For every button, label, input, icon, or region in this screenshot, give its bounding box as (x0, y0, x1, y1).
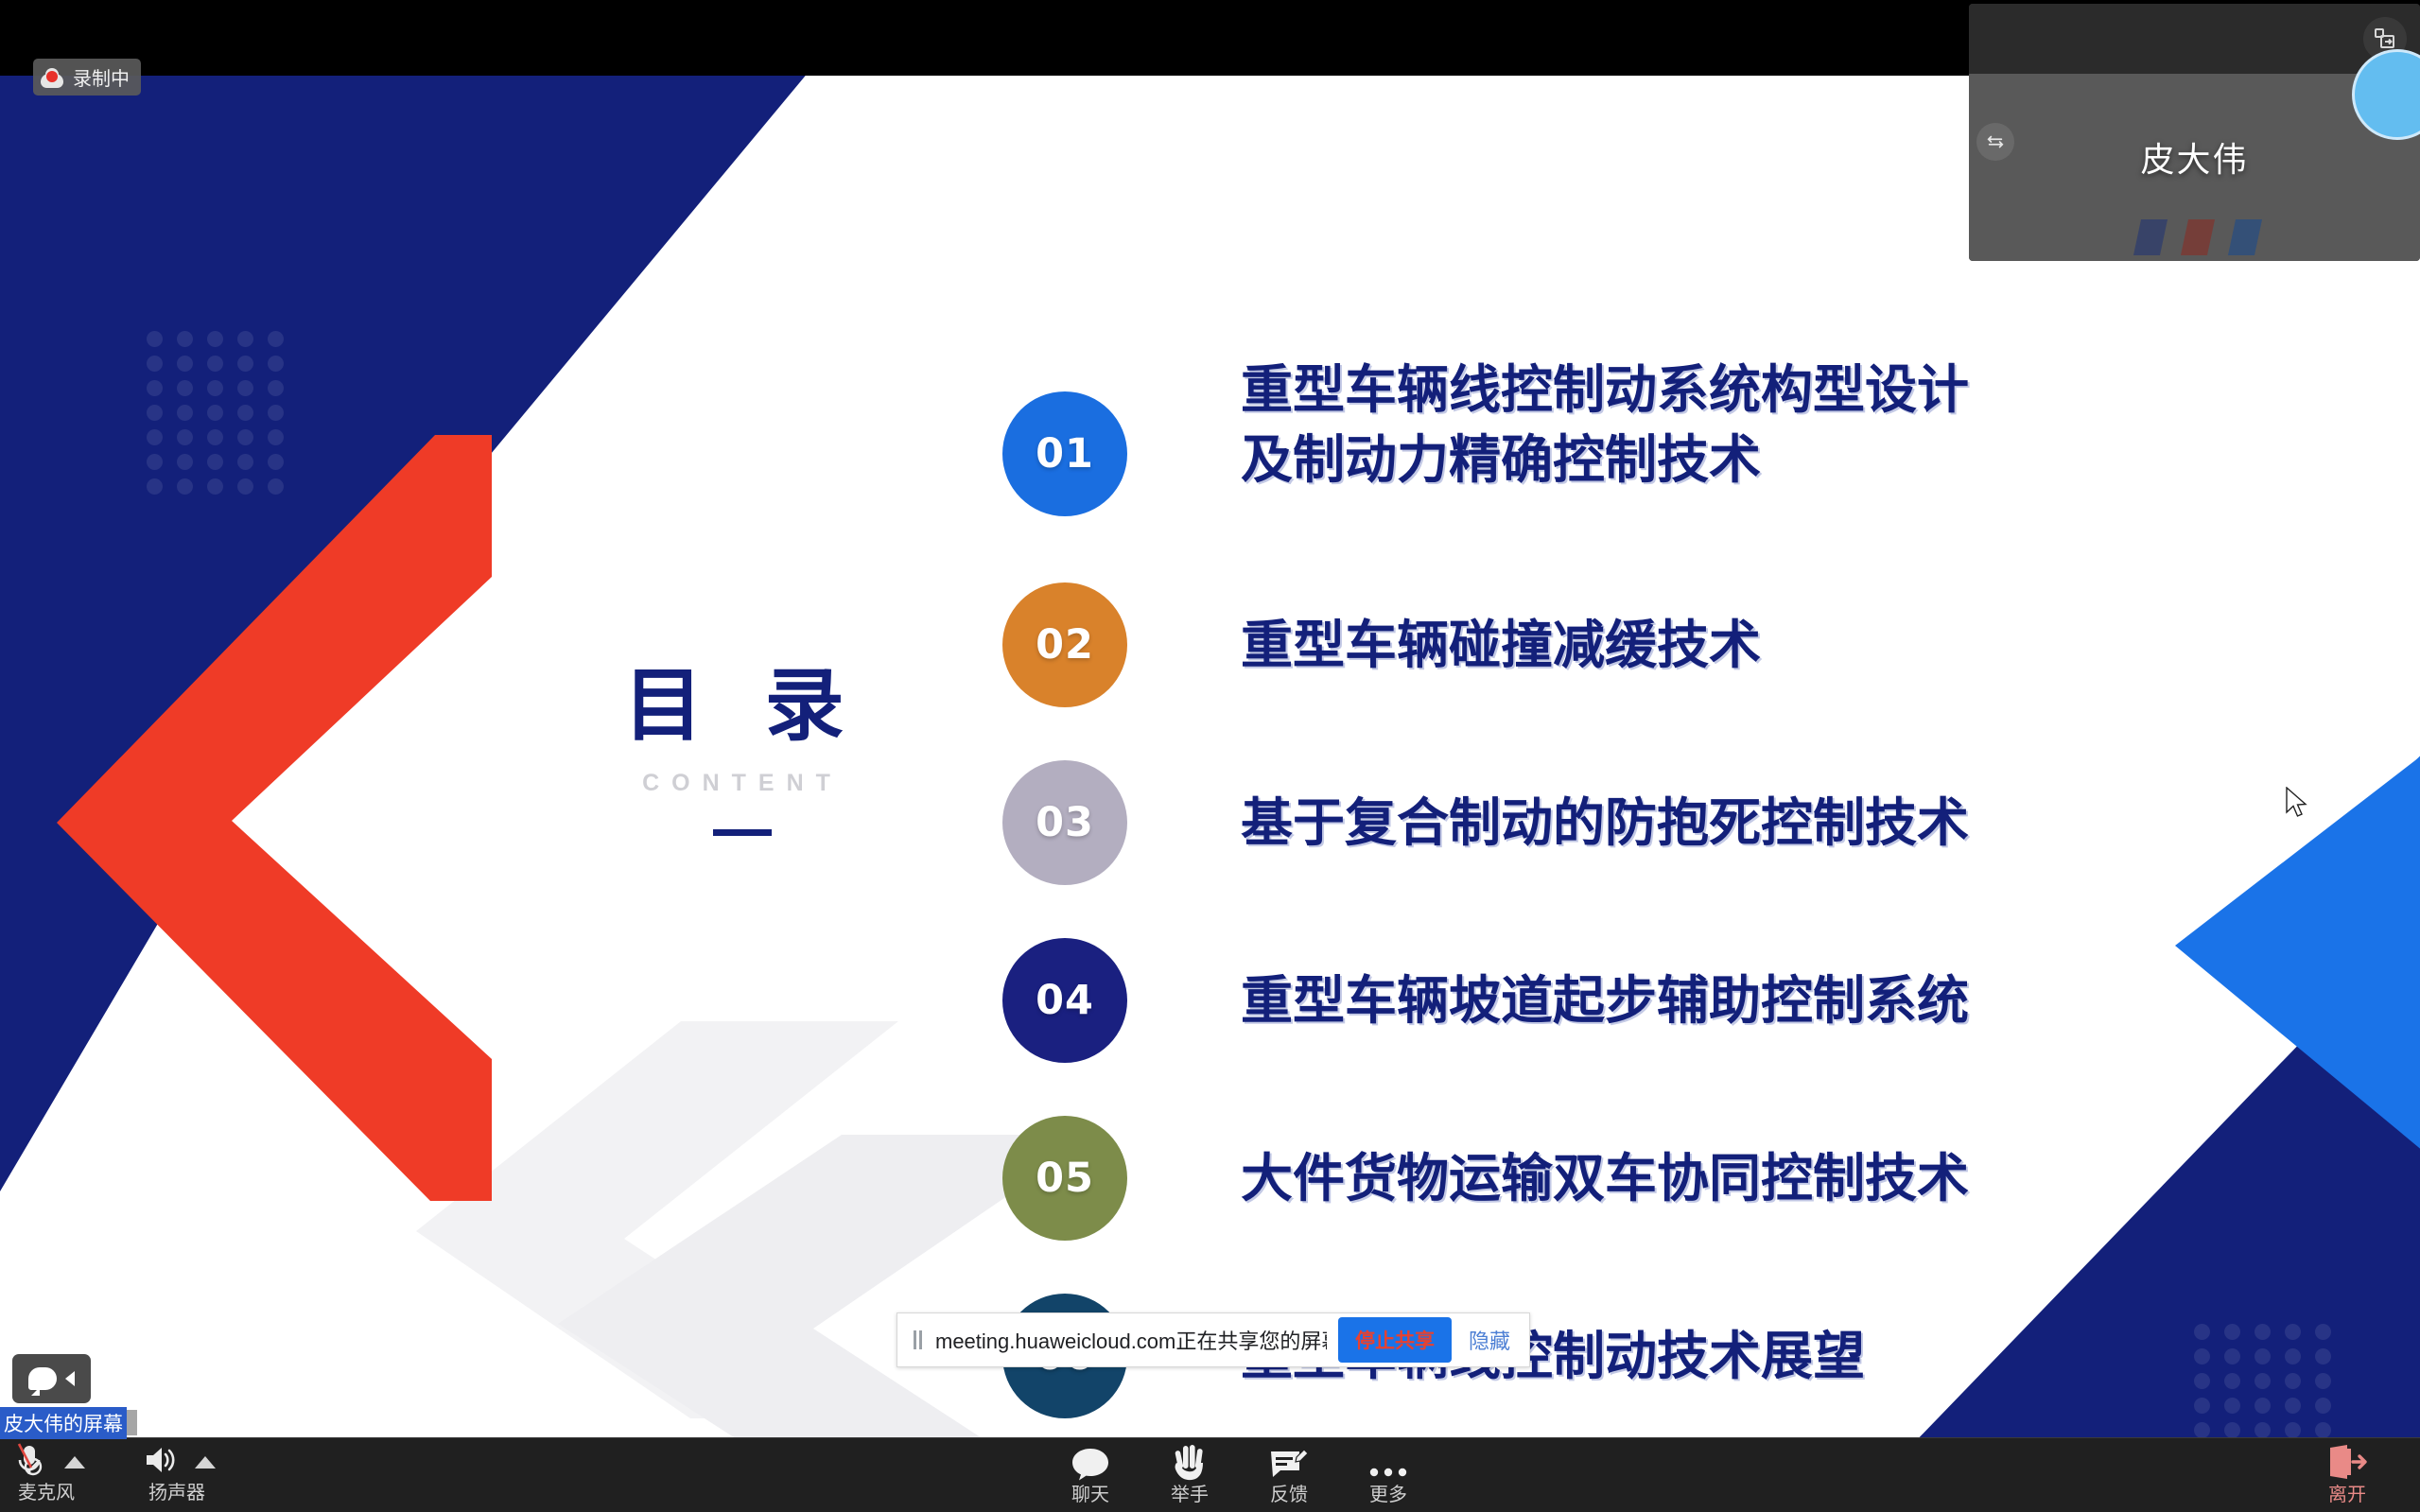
pause-icon (911, 1330, 924, 1349)
slide-content-list: 01重型车辆线控制动系统构型设计及制动力精确控制技术02重型车辆碰撞减缓技术03… (1002, 359, 2345, 1437)
toolbar-chat[interactable]: 聊天 (1038, 1442, 1142, 1504)
participant-name: 皮大伟 (1969, 132, 2420, 182)
more-label: 更多 (1369, 1486, 1407, 1504)
grid-dot (207, 356, 223, 372)
participant-video-panel[interactable]: 皮大伟 (1969, 4, 2420, 261)
toolbar-microphone[interactable]: 麦克风 (8, 1440, 85, 1503)
screen-tag-label: 皮大伟的屏幕 (0, 1407, 127, 1439)
content-row-text: 重型车辆坡道起步辅助控制系统 (1241, 966, 2319, 1036)
exit-door-icon (2326, 1442, 2368, 1482)
grid-dot (268, 405, 284, 421)
grid-dot (147, 331, 163, 347)
screen-tag-tail (127, 1410, 137, 1435)
grid-dot (268, 380, 284, 396)
red-chevron-arrow (57, 435, 492, 1201)
grid-dot (177, 331, 193, 347)
content-number-badge: 02 (1002, 582, 1127, 707)
chevron-left-icon (65, 1371, 75, 1386)
grid-dot (237, 380, 253, 396)
grid-dot (268, 331, 284, 347)
video-stripes (2137, 219, 2270, 255)
chevron-up-icon-microphone[interactable] (64, 1456, 85, 1469)
more-dots-icon (1367, 1442, 1409, 1482)
grid-dot (177, 405, 193, 421)
slide-title-cn: 目 录 (586, 662, 898, 749)
video-stripe (2228, 219, 2262, 255)
content-row: 03基于复合制动的防抱死控制技术 (1002, 760, 2345, 938)
shared-slide: 目 录 CONTENT 01重型车辆线控制动系统构型设计及制动力精确控制技术02… (0, 76, 2420, 1437)
mouse-cursor (2285, 787, 2309, 821)
microphone-label: 麦克风 (18, 1484, 75, 1503)
video-stripe (2181, 219, 2215, 255)
speaker-label: 扬声器 (148, 1484, 205, 1503)
slide-title-en: CONTENT (586, 770, 898, 797)
content-row-text: 大件货物运输双车协同控制技术 (1241, 1144, 2319, 1214)
screen-share-notice-bar: meeting.huaweicloud.com正在共享您的屏幕。 停止共享 隐藏 (897, 1312, 1530, 1367)
grid-dot (207, 380, 223, 396)
microphone-muted-icon[interactable] (8, 1438, 51, 1486)
raise-hand-label: 举手 (1171, 1486, 1209, 1504)
slide-title-block: 目 录 CONTENT (586, 662, 898, 836)
leave-label: 离开 (2328, 1486, 2366, 1504)
content-row-text: 重型车辆碰撞减缓技术 (1241, 611, 2319, 681)
grid-dot (207, 331, 223, 347)
chat-bubble-icon (1071, 1442, 1110, 1482)
content-number-badge: 05 (1002, 1116, 1127, 1241)
content-number-badge: 03 (1002, 760, 1127, 885)
grid-dot (147, 356, 163, 372)
leave-meeting-button[interactable]: 离开 (2295, 1442, 2399, 1504)
grid-dot (177, 380, 193, 396)
content-row: 04重型车辆坡道起步辅助控制系统 (1002, 938, 2345, 1116)
feedback-icon (1268, 1442, 1310, 1482)
toolbar-feedback[interactable]: 反馈 (1237, 1442, 1341, 1504)
content-row-text: 基于复合制动的防抱死控制技术 (1241, 789, 2319, 859)
share-notice-text: meeting.huaweicloud.com正在共享您的屏幕。 (935, 1325, 1327, 1355)
video-stripe (2133, 219, 2168, 255)
content-number-badge: 04 (1002, 938, 1127, 1063)
chat-bubble-icon (28, 1367, 57, 1390)
hide-notice-link[interactable]: 隐藏 (1463, 1325, 1516, 1355)
meeting-toolbar: 麦克风 扬声器 (0, 1437, 2420, 1512)
chevron-up-icon-speaker[interactable] (195, 1456, 216, 1469)
feedback-label: 反馈 (1270, 1486, 1308, 1504)
toolbar-speaker[interactable]: 扬声器 (138, 1440, 216, 1503)
content-row: 05大件货物运输双车协同控制技术 (1002, 1116, 2345, 1294)
toolbar-more[interactable]: 更多 (1336, 1442, 1440, 1504)
screen-root: 目 录 CONTENT 01重型车辆线控制动系统构型设计及制动力精确控制技术02… (0, 0, 2420, 1512)
grid-dot (147, 380, 163, 396)
content-row-text: 重型车辆线控制动系统构型设计及制动力精确控制技术 (1241, 356, 2319, 495)
raise-hand-icon (1171, 1442, 1209, 1482)
content-row: 01重型车辆线控制动系统构型设计及制动力精确控制技术 (1002, 359, 2345, 582)
toolbar-device-group: 麦克风 扬声器 (8, 1440, 216, 1503)
speaker-icon[interactable] (138, 1438, 182, 1486)
chat-label: 聊天 (1071, 1486, 1109, 1504)
content-row: 02重型车辆碰撞减缓技术 (1002, 582, 2345, 760)
recording-label: 录制中 (73, 63, 130, 91)
grid-dot (268, 356, 284, 372)
title-underline (713, 829, 772, 836)
grid-dot (177, 356, 193, 372)
grid-dot (147, 405, 163, 421)
recording-badge: 录制中 (33, 59, 141, 96)
grid-dot (237, 331, 253, 347)
grid-dot (237, 356, 253, 372)
grid-dot (237, 405, 253, 421)
content-number-badge: 01 (1002, 391, 1127, 516)
participant-panel-header (1969, 4, 2420, 74)
stop-sharing-button[interactable]: 停止共享 (1338, 1317, 1452, 1363)
screen-tag: 皮大伟的屏幕 (0, 1408, 137, 1437)
grid-dot (207, 405, 223, 421)
toolbar-raise-hand[interactable]: 举手 (1138, 1442, 1242, 1504)
floating-chat-button[interactable] (12, 1354, 91, 1403)
record-dot-icon (41, 67, 63, 88)
